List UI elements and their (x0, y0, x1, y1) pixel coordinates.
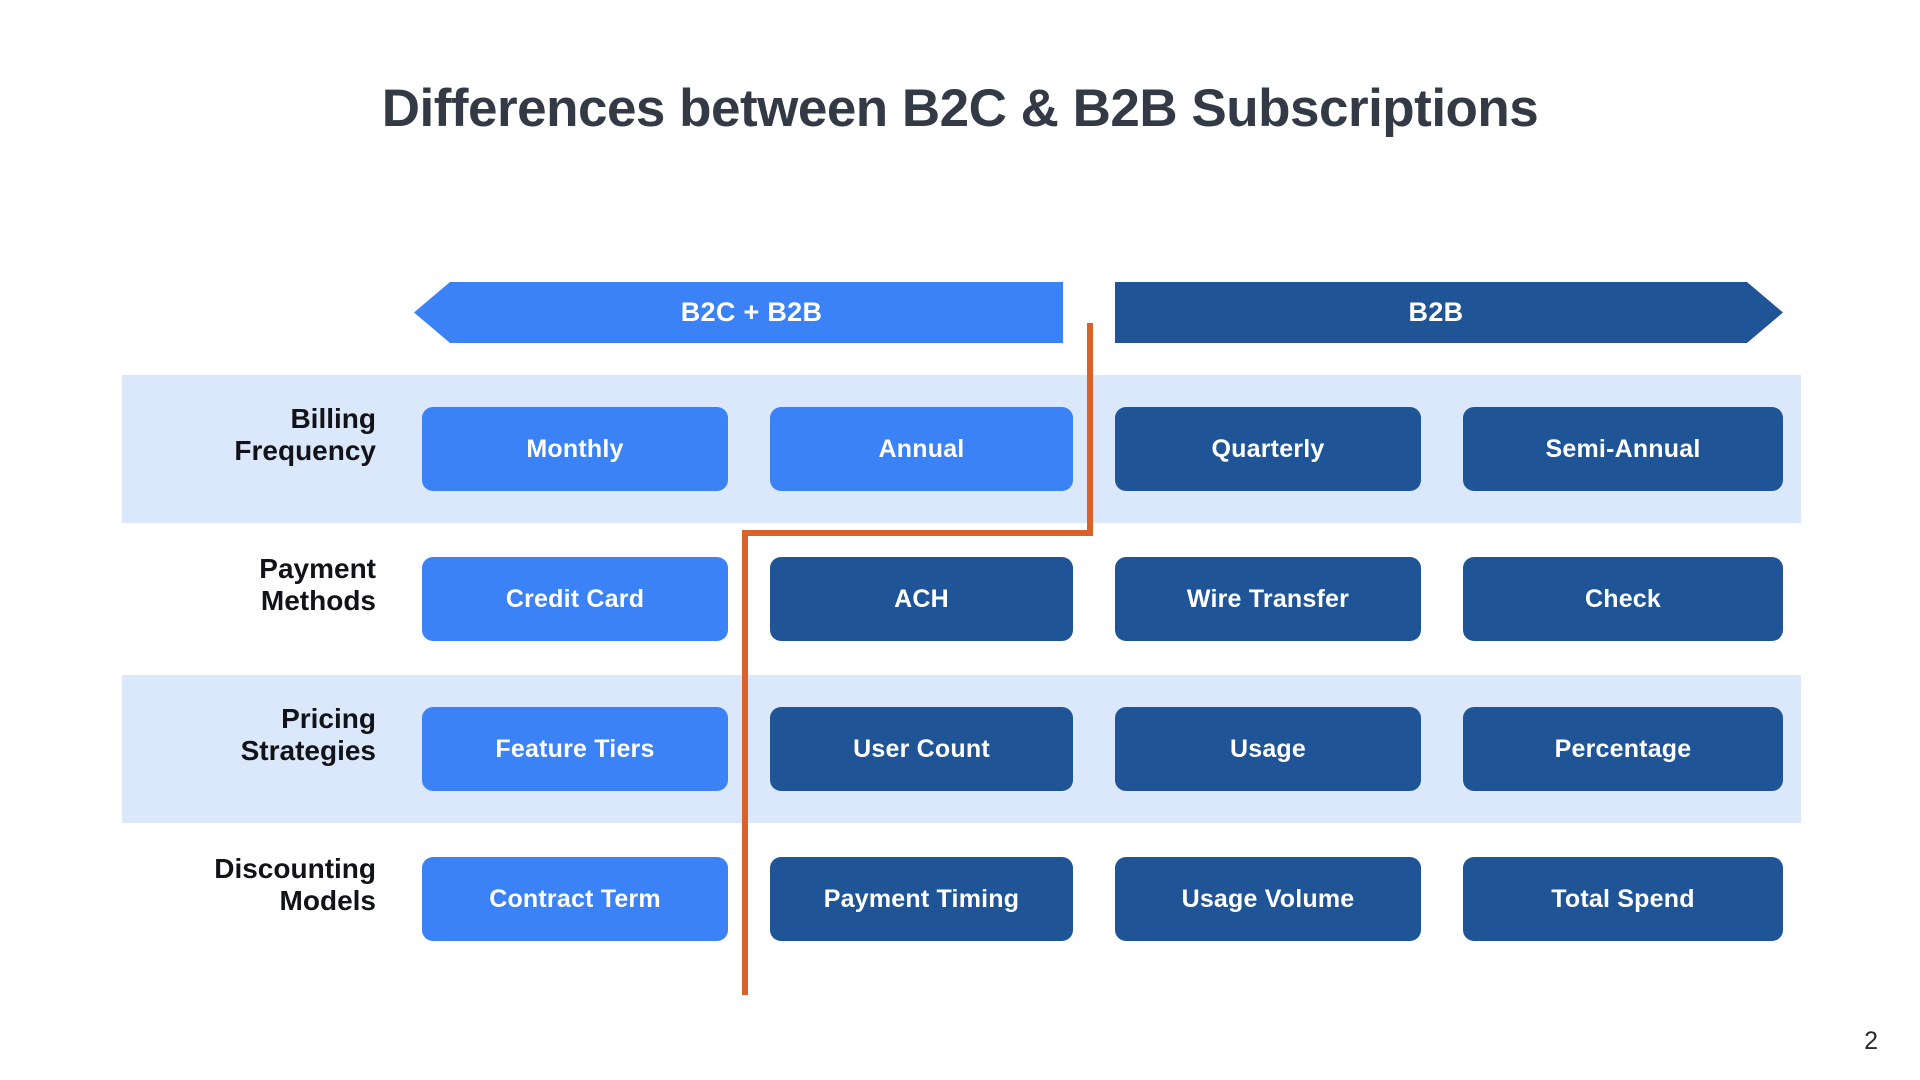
cell-pricing-user-count[interactable]: User Count (770, 707, 1073, 791)
cell-billing-quarterly[interactable]: Quarterly (1115, 407, 1421, 491)
row-label-payment-methods: Payment Methods (140, 553, 376, 617)
matrix-row-payment-methods: Payment Methods Credit Card ACH Wire Tra… (0, 525, 1920, 673)
cell-pricing-percentage[interactable]: Percentage (1463, 707, 1783, 791)
cell-payment-wire-transfer[interactable]: Wire Transfer (1115, 557, 1421, 641)
cell-discount-contract-term[interactable]: Contract Term (422, 857, 728, 941)
row-label-line-2: Methods (140, 585, 376, 617)
cell-billing-annual[interactable]: Annual (770, 407, 1073, 491)
header-arrow-label: B2C + B2B (681, 297, 823, 328)
cell-payment-check[interactable]: Check (1463, 557, 1783, 641)
row-label-line-2: Models (140, 885, 376, 917)
page-title: Differences between B2C & B2B Subscripti… (0, 78, 1920, 139)
matrix-row-billing-frequency: Billing Frequency Monthly Annual Quarter… (0, 375, 1920, 523)
slide-canvas: Differences between B2C & B2B Subscripti… (0, 0, 1920, 1080)
row-label-line-1: Billing (140, 403, 376, 435)
row-label-line-1: Discounting (140, 853, 376, 885)
row-label-billing-frequency: Billing Frequency (140, 403, 376, 467)
header-arrow-label: B2B (1409, 297, 1464, 328)
cell-pricing-feature-tiers[interactable]: Feature Tiers (422, 707, 728, 791)
header-arrow-b2b: B2B (1115, 282, 1783, 343)
row-label-line-2: Strategies (140, 735, 376, 767)
cell-payment-ach[interactable]: ACH (770, 557, 1073, 641)
row-label-line-1: Payment (140, 553, 376, 585)
cell-discount-usage-volume[interactable]: Usage Volume (1115, 857, 1421, 941)
cell-payment-credit-card[interactable]: Credit Card (422, 557, 728, 641)
cell-discount-total-spend[interactable]: Total Spend (1463, 857, 1783, 941)
cell-billing-semi-annual[interactable]: Semi-Annual (1463, 407, 1783, 491)
header-arrow-b2c-b2b: B2C + B2B (414, 282, 1063, 343)
row-label-discounting-models: Discounting Models (140, 853, 376, 917)
page-number: 2 (1864, 1027, 1878, 1056)
matrix-row-pricing-strategies: Pricing Strategies Feature Tiers User Co… (0, 675, 1920, 823)
row-label-pricing-strategies: Pricing Strategies (140, 703, 376, 767)
matrix-row-discounting-models: Discounting Models Contract Term Payment… (0, 825, 1920, 973)
cell-pricing-usage[interactable]: Usage (1115, 707, 1421, 791)
row-label-line-1: Pricing (140, 703, 376, 735)
row-label-line-2: Frequency (140, 435, 376, 467)
cell-billing-monthly[interactable]: Monthly (422, 407, 728, 491)
cell-discount-payment-timing[interactable]: Payment Timing (770, 857, 1073, 941)
